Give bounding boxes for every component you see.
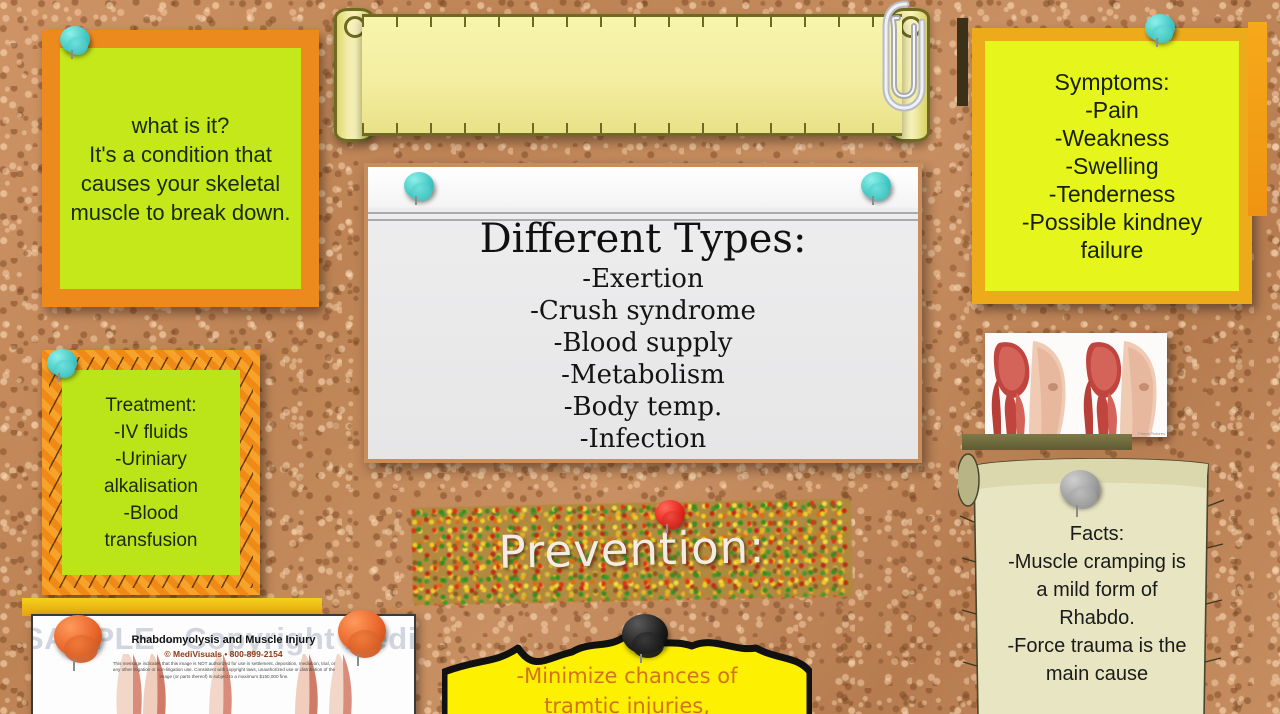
note-line: -Weakness (993, 124, 1231, 152)
list-item: -Blood supply (368, 327, 918, 359)
splash-text: -Minimize chances of tramtic injuries, (442, 661, 812, 714)
note-what-is-it: what is it? It's a condition that causes… (42, 30, 319, 307)
list-item: -Crush syndrome (368, 295, 918, 327)
anatomy-credit: Primal Pictures (1138, 431, 1165, 436)
note-face: Symptoms: -Pain -Weakness -Swelling -Ten… (985, 41, 1239, 291)
medivisuals-copyright: © MediVisuals • 800-899-2154 (33, 649, 414, 659)
list-item: -Exertion (368, 263, 918, 295)
types-heading: Different Types: (368, 215, 918, 263)
note-line: -Pain (993, 96, 1231, 124)
note-line: It's a condition that (68, 140, 293, 169)
note-line: -Blood (70, 500, 232, 527)
note-line: -Tenderness (993, 180, 1231, 208)
note-line: failure (993, 236, 1231, 264)
note-line: alkalisation (70, 473, 232, 500)
facts-line: -Muscle cramping is (974, 548, 1220, 576)
facts-line: a mild form of (974, 576, 1220, 604)
list-item: -Infection (368, 423, 918, 455)
note-treatment: Treatment: -IV fluids -Uriniary alkalisa… (42, 350, 260, 595)
facts-heading: Facts: (974, 520, 1220, 548)
prevention-splash: -Minimize chances of tramtic injuries, (442, 628, 812, 714)
splash-line: tramtic injuries, (442, 691, 812, 714)
note-what-is-it-text: what is it? It's a condition that causes… (60, 107, 301, 231)
splash-line: -Minimize chances of (442, 661, 812, 691)
orange-edge-strip (1248, 22, 1267, 216)
scroll-paper (362, 14, 902, 136)
shoulder-muscle-illustration (985, 333, 1076, 437)
medivisuals-title: Rhabdomyolysis and Muscle Injury (33, 634, 414, 646)
facts-text: Facts: -Muscle cramping is a mild form o… (974, 520, 1220, 688)
cork-board: what is it? It's a condition that causes… (0, 0, 1280, 714)
note-symptoms: Symptoms: -Pain -Weakness -Swelling -Ten… (972, 28, 1252, 304)
note-heading: Symptoms: (993, 68, 1231, 96)
facts-scroll: Facts: -Muscle cramping is a mild form o… (958, 452, 1234, 714)
facts-line: -Force trauma is the (974, 632, 1220, 660)
list-item: -Body temp. (368, 391, 918, 423)
anatomy-figure-right (1076, 333, 1167, 437)
dark-sliver (957, 18, 968, 106)
paperclip-icon (876, 0, 936, 122)
anatomy-photo: Primal Pictures (985, 333, 1167, 437)
note-line: transfusion (70, 527, 232, 554)
olive-bar (962, 434, 1132, 450)
note-face: Treatment: -IV fluids -Uriniary alkalisa… (62, 370, 240, 575)
note-treatment-text: Treatment: -IV fluids -Uriniary alkalisa… (62, 388, 240, 558)
note-line: -Uriniary (70, 446, 232, 473)
facts-line: main cause (974, 660, 1220, 688)
facts-line: Rhabdo. (974, 604, 1220, 632)
note-line: -Swelling (993, 152, 1231, 180)
prevention-banner: Prevention: (411, 498, 853, 605)
shoulder-muscle-illustration (1076, 333, 1167, 437)
note-line: what is it? (68, 111, 293, 140)
note-line: causes your skeletal (68, 169, 293, 198)
anatomy-figure-left (985, 333, 1076, 437)
note-line: muscle to break down. (68, 198, 293, 227)
lined-paper-content: Different Types: -Exertion -Crush syndro… (368, 167, 918, 455)
types-list: -Exertion -Crush syndrome -Blood supply … (368, 263, 918, 455)
note-face: what is it? It's a condition that causes… (60, 48, 301, 289)
medivisuals-fine-print: This message indicates that this image i… (111, 661, 337, 680)
prevention-heading: Prevention: (411, 516, 852, 583)
lined-paper-different-types: Different Types: -Exertion -Crush syndro… (364, 163, 922, 463)
list-item: -Metabolism (368, 359, 918, 391)
note-heading: Treatment: (70, 392, 232, 419)
medivisuals-card: SAMPLE - Copyright MediVisuals SAMPLE Co… (31, 614, 416, 714)
note-symptoms-text: Symptoms: -Pain -Weakness -Swelling -Ten… (985, 64, 1239, 268)
note-line: -IV fluids (70, 419, 232, 446)
title-scroll (332, 8, 932, 138)
note-line: -Possible kindney (993, 208, 1231, 236)
